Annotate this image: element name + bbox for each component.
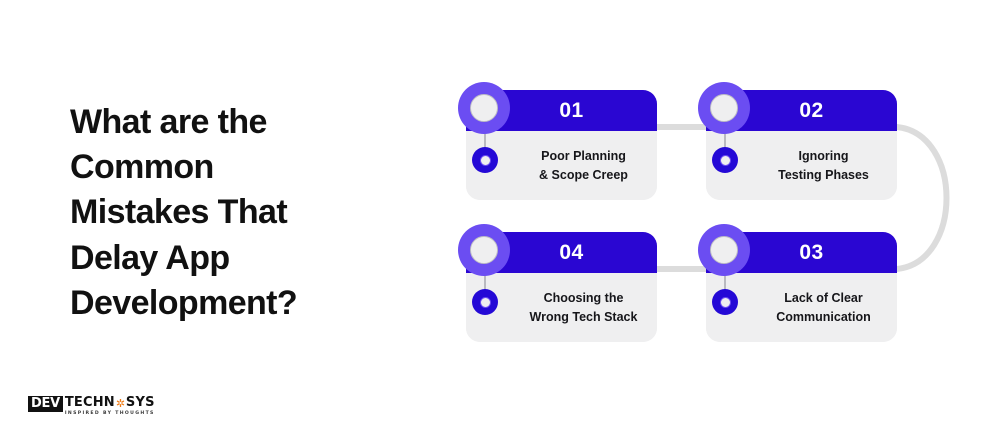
logo-tagline: INSPIRED BY THOUGHTS [65, 411, 155, 416]
step-badge-inner-circle [710, 94, 738, 122]
step-number: 04 [559, 241, 583, 265]
step-donut-icon [712, 147, 738, 173]
step-badge-ring-icon [458, 82, 510, 134]
step-donut-hole [480, 155, 491, 166]
step-donut-hole [720, 297, 731, 308]
step-number: 02 [799, 99, 823, 123]
logo-word-left: TECHN [65, 396, 115, 410]
step-donut-hole [480, 297, 491, 308]
step-number: 03 [799, 241, 823, 265]
logo-word-right: SYS [126, 396, 155, 410]
logo-dev-badge: DEV [28, 396, 63, 412]
step-title: Lack of Clear Communication [754, 273, 897, 342]
step-title: Choosing the Wrong Tech Stack [514, 273, 657, 342]
step-badge-inner-circle [470, 236, 498, 264]
logo-wordmark: TECHN ✲ SYS INSPIRED BY THOUGHTS [65, 396, 155, 416]
logo-word-row: TECHN ✲ SYS [65, 396, 155, 410]
step-card-04[interactable]: 04 Choosing the Wrong Tech Stack [466, 232, 657, 342]
step-badge-ring-icon [458, 224, 510, 276]
step-donut-hole [720, 155, 731, 166]
step-donut-icon [712, 289, 738, 315]
step-donut-icon [472, 289, 498, 315]
step-badge-ring-icon [698, 224, 750, 276]
step-card-01[interactable]: 01 Poor Planning & Scope Creep [466, 90, 657, 200]
step-badge-ring-icon [698, 82, 750, 134]
step-title: Ignoring Testing Phases [754, 131, 897, 200]
step-number: 01 [559, 99, 583, 123]
step-title: Poor Planning & Scope Creep [514, 131, 657, 200]
step-badge-inner-circle [710, 236, 738, 264]
step-card-03[interactable]: 03 Lack of Clear Communication [706, 232, 897, 342]
infographic-canvas: What are the Common Mistakes That Delay … [0, 0, 1000, 437]
step-donut-icon [472, 147, 498, 173]
brand-logo: DEV TECHN ✲ SYS INSPIRED BY THOUGHTS [28, 396, 155, 416]
step-badge-inner-circle [470, 94, 498, 122]
gear-icon: ✲ [116, 399, 125, 408]
step-card-02[interactable]: 02 Ignoring Testing Phases [706, 90, 897, 200]
page-title: What are the Common Mistakes That Delay … [70, 100, 400, 326]
connector-card-02-to-03-arc [897, 127, 947, 269]
